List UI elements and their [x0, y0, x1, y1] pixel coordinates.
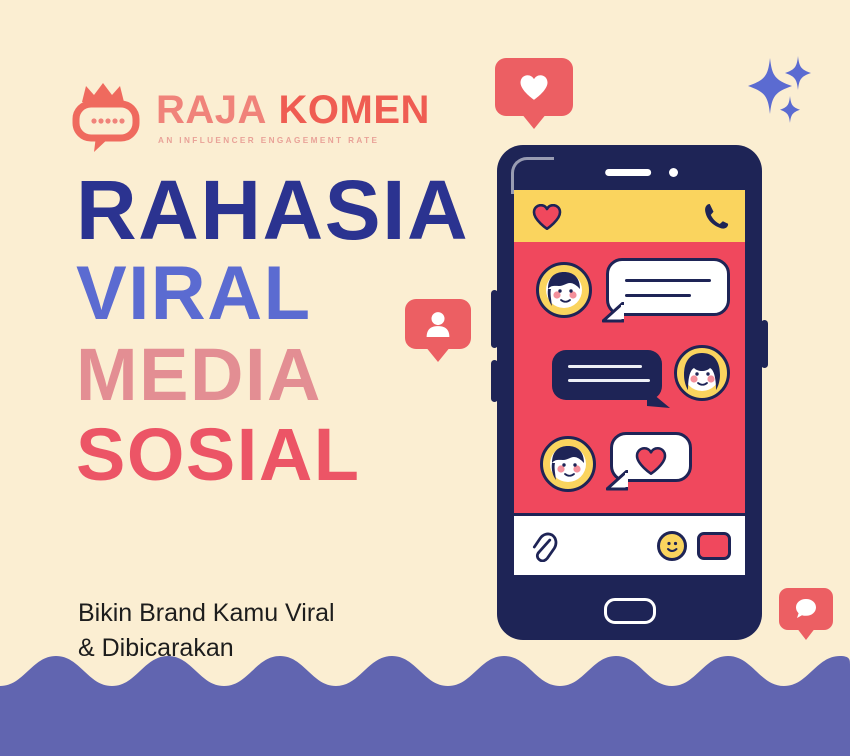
phone-screen [514, 190, 745, 575]
brand-name-komen: KOMEN [279, 88, 430, 132]
bubble-tail-1 [602, 302, 624, 324]
paperclip-icon[interactable] [530, 532, 558, 562]
headline-line-1: RAHASIA [76, 170, 469, 251]
smiley-icon[interactable] [657, 531, 687, 561]
phone-call-icon [703, 203, 729, 230]
bubble-tail-2 [646, 388, 672, 410]
chat-topbar [514, 190, 745, 242]
brand-wordmark: RAJA KOMEN [156, 90, 430, 130]
phone-camera-icon [669, 168, 678, 177]
wave-decoration [0, 646, 850, 756]
like-badge [495, 58, 573, 116]
follower-badge [405, 299, 471, 349]
headline-line-3: MEDIA [76, 339, 469, 411]
chat-bubble-incoming-1 [606, 258, 730, 316]
headline-line-4: SOSIAL [76, 419, 469, 491]
brand-logo: RAJA KOMEN AN INFLUENCER ENGAGEMENT RATE [70, 78, 390, 156]
person-icon [426, 311, 450, 337]
phone-power-button [761, 320, 768, 368]
avatar-face-3 [543, 439, 593, 489]
avatar-face-1 [539, 265, 589, 315]
comment-badge [779, 588, 833, 630]
phone-illustration [497, 145, 762, 640]
heart-icon [634, 447, 668, 475]
phone-speaker [605, 169, 651, 176]
send-button[interactable] [697, 532, 731, 560]
crown-speech-bubble-icon [70, 80, 142, 154]
heart-icon [519, 74, 549, 101]
phone-volume-up-button [491, 290, 498, 348]
brand-tagline: AN INFLUENCER ENGAGEMENT RATE [158, 136, 379, 145]
avatar [536, 262, 592, 318]
heart-icon [532, 204, 562, 230]
brand-name-raja: RAJA [156, 88, 267, 132]
avatar [674, 345, 730, 401]
home-button[interactable] [604, 598, 656, 624]
bubble-tail-3 [606, 470, 628, 492]
poster-canvas: RAJA KOMEN AN INFLUENCER ENGAGEMENT RATE… [0, 0, 850, 756]
avatar-face-2 [677, 348, 727, 398]
subtitle-line-1: Bikin Brand Kamu Viral [78, 596, 335, 631]
sparkle-icon [740, 48, 820, 128]
avatar [540, 436, 596, 492]
smiley-face [660, 534, 684, 558]
phone-highlight [511, 157, 554, 194]
chat-input-bar[interactable] [514, 513, 745, 575]
comment-icon [794, 597, 818, 621]
phone-volume-down-button [491, 360, 498, 402]
